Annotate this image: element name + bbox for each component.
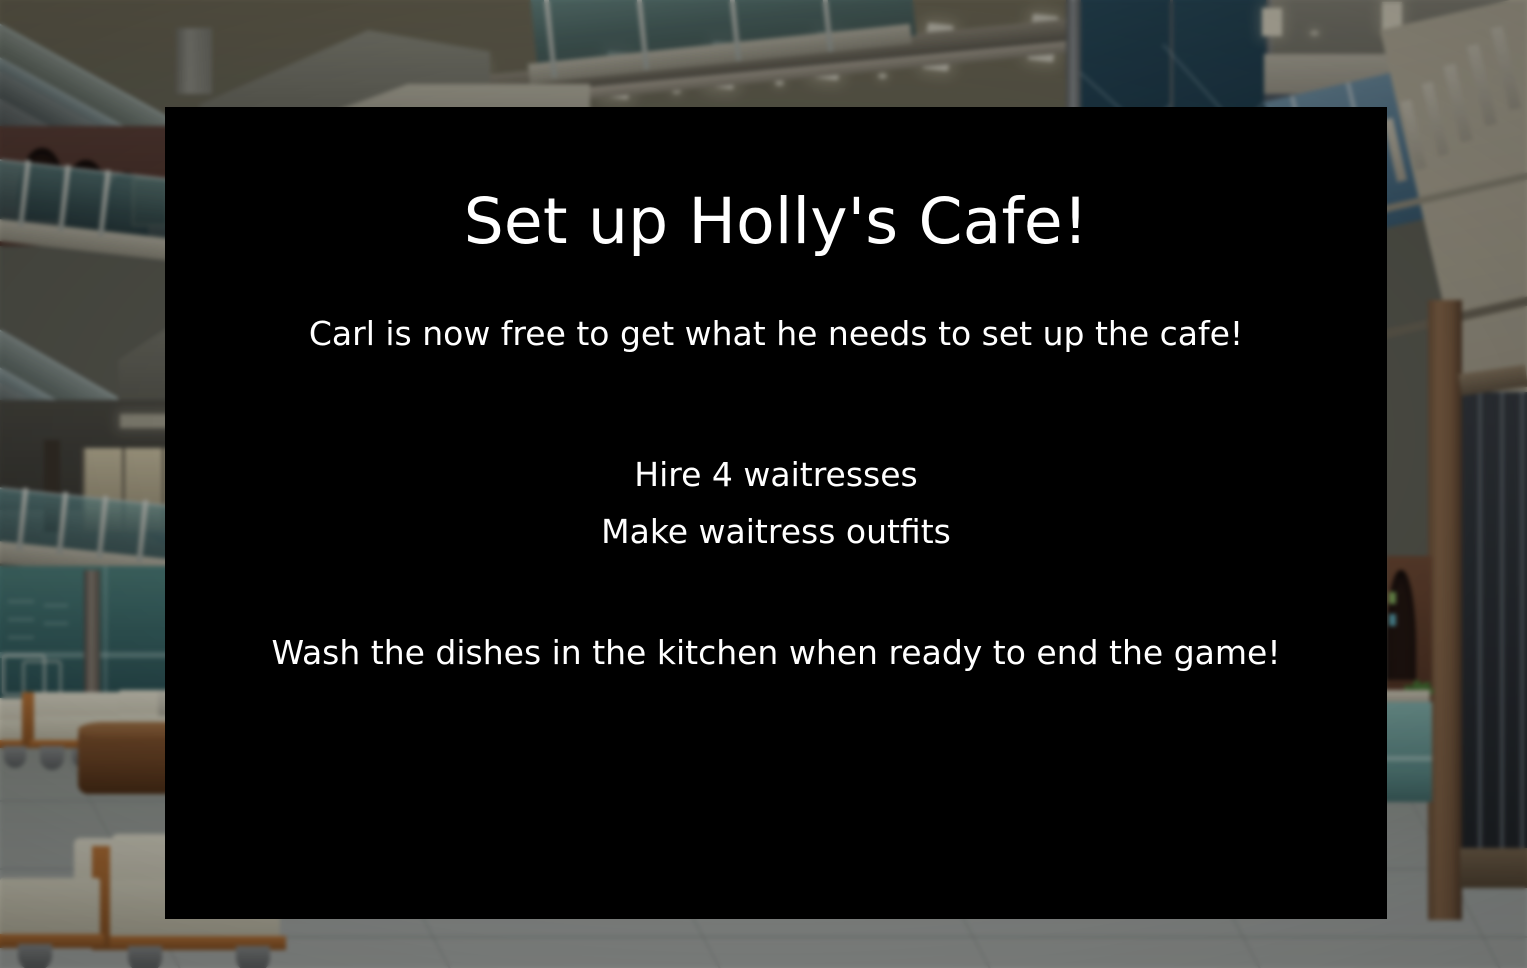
dark-storefront [1462,392,1527,862]
dialog-footnote: Wash the dishes in the kitchen when read… [165,633,1387,673]
mall-pillar [1428,300,1462,920]
objective-task-item: Hire 4 waitresses [165,447,1387,504]
objective-task-item: Make waitress outfits [165,504,1387,561]
game-screen: Set up Holly's Cafe! Carl is now free to… [0,0,1527,968]
objective-dialog[interactable]: Set up Holly's Cafe! Carl is now free to… [165,107,1387,919]
dialog-title: Set up Holly's Cafe! [165,189,1387,255]
dialog-subtitle: Carl is now free to get what he needs to… [165,314,1387,354]
objective-task-list: Hire 4 waitresses Make waitress outfits [165,447,1387,561]
